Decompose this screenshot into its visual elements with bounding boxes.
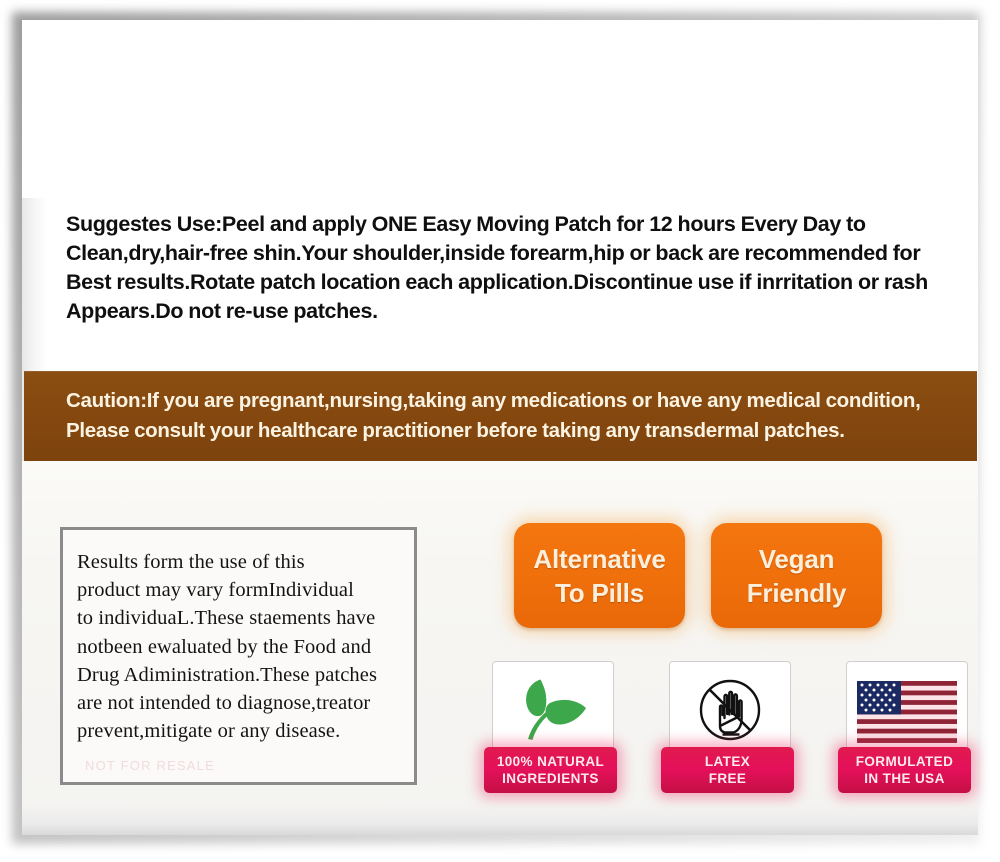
caution-line-1: Caution:If you are pregnant,nursing,taki…: [24, 386, 933, 416]
certification-usa-line-2: IN THE USA: [864, 770, 945, 787]
suggested-use-section: Suggestes Use:Peel and apply ONE Easy Mo…: [66, 210, 956, 326]
product-label-card: Suggestes Use:Peel and apply ONE Easy Mo…: [22, 20, 978, 835]
blank-header-area: [22, 20, 978, 198]
certification-latex-banner: LATEX FREE: [661, 747, 794, 793]
certification-natural-ingredients[interactable]: 100% NATURAL INGREDIENTS: [484, 661, 617, 794]
leaf-icon: [516, 677, 590, 748]
caution-line-2: Please consult your healthcare practitio…: [24, 416, 933, 446]
caution-text-block: Caution:If you are pregnant,nursing,taki…: [24, 386, 933, 446]
disclaimer-line-5: Drug Adiministration.These patches: [77, 661, 404, 689]
suggested-use-line-4: Appears.Do not re-use patches.: [66, 297, 956, 326]
claim-badge-vegan-line-1: Vegan: [759, 542, 835, 576]
disclaimer-watermark: NOT FOR RESALE: [85, 758, 385, 774]
certification-usa-banner: FORMULATED IN THE USA: [838, 747, 971, 793]
claim-badges: Alternative To Pills Vegan Friendly: [514, 523, 882, 628]
suggested-use-line-2: Clean,dry,hair-free shin.Your shoulder,i…: [66, 239, 956, 268]
disclaimer-box: Results form the use of this product may…: [60, 527, 417, 785]
certification-formulated-usa[interactable]: FORMULATED IN THE USA: [838, 661, 971, 794]
certification-badges: 100% NATURAL INGREDIENTS: [484, 661, 971, 794]
disclaimer-line-4: notbeen ewaluated by the Food and: [77, 633, 404, 661]
certification-natural-line-2: INGREDIENTS: [502, 770, 599, 787]
certification-latex-line-2: FREE: [709, 770, 747, 787]
certification-natural-line-1: 100% NATURAL: [497, 753, 604, 770]
no-latex-glove-icon: [692, 674, 768, 751]
lower-section: Results form the use of this product may…: [22, 461, 978, 835]
claim-badge-vegan-friendly[interactable]: Vegan Friendly: [711, 523, 882, 628]
disclaimer-line-7: prevent,mitigate or any disease.: [77, 717, 404, 745]
suggested-use-line-1: Suggestes Use:Peel and apply ONE Easy Mo…: [66, 210, 956, 239]
certification-latex-free[interactable]: LATEX FREE: [661, 661, 794, 794]
claim-badge-alternative-line-2: To Pills: [555, 576, 644, 610]
claim-badge-alternative-line-1: Alternative: [533, 542, 665, 576]
disclaimer-line-3: to individuaL.These staements have: [77, 604, 404, 632]
caution-banner: Caution:If you are pregnant,nursing,taki…: [24, 371, 977, 461]
certification-usa-line-1: FORMULATED: [856, 753, 954, 770]
certification-natural-banner: 100% NATURAL INGREDIENTS: [484, 747, 617, 793]
claim-badge-vegan-line-2: Friendly: [747, 576, 847, 610]
disclaimer-line-6: are not intended to diagnose,treator: [77, 689, 404, 717]
usa-flag-icon: [857, 681, 957, 743]
disclaimer-line-1: Results form the use of this: [77, 548, 404, 576]
product-label-page: Suggestes Use:Peel and apply ONE Easy Mo…: [0, 0, 1000, 862]
certification-latex-line-1: LATEX: [705, 753, 750, 770]
suggested-use-line-3: Best results.Rotate patch location each …: [66, 268, 956, 297]
claim-badge-alternative-to-pills[interactable]: Alternative To Pills: [514, 523, 685, 628]
disclaimer-line-2: product may vary formIndividual: [77, 576, 404, 604]
